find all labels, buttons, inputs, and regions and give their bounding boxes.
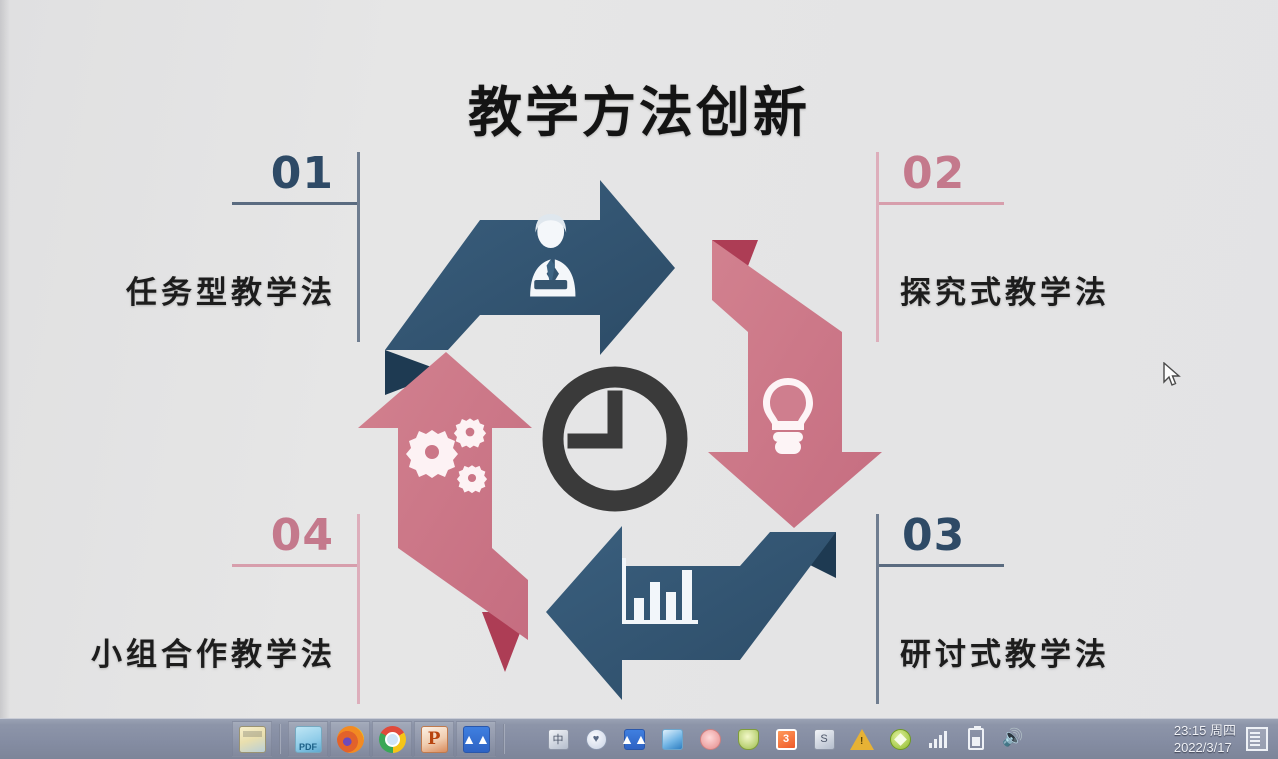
tray-window-app[interactable] [654, 721, 690, 757]
taskbar-divider-2 [503, 724, 505, 754]
mouse-pointer [1162, 362, 1182, 388]
taskbar-app-meeting[interactable]: ▲▲ [456, 721, 496, 757]
tray-warning[interactable] [844, 721, 880, 757]
clock-icon [553, 377, 677, 501]
callout-02-label: 探究式教学法 [876, 267, 1176, 312]
firefox-icon [337, 726, 364, 753]
clock-area[interactable]: 23:15 周四 2022/3/17 [1174, 722, 1278, 756]
file-explorer-icon [239, 726, 266, 753]
pdf-reader-icon: PDF [295, 726, 322, 753]
printer-icon: S [814, 729, 835, 750]
callout-01-number: 01 [60, 152, 360, 196]
taskbar-divider [279, 724, 281, 754]
window-tray-icon [662, 729, 683, 750]
cycle-diagram [330, 160, 910, 720]
tray-volume[interactable]: 🔊 [996, 721, 1032, 757]
tray-flower-app[interactable] [692, 721, 728, 757]
tray-orange-app[interactable]: 3 [768, 721, 804, 757]
arrow-down-rose [708, 240, 882, 528]
arrow-left-navy [546, 526, 836, 700]
clock-times: 23:15 周四 2022/3/17 [1174, 722, 1236, 756]
meeting-tray-icon: ▲▲ [624, 729, 645, 750]
tray-heart-app[interactable]: ♥ [578, 721, 614, 757]
taskbar[interactable]: PDF P ▲▲ 中 ♥ ▲▲ [0, 718, 1278, 759]
volume-icon: 🔊 [1002, 729, 1026, 749]
warning-icon [850, 729, 874, 750]
taskbar-quicklaunch[interactable]: PDF P ▲▲ [232, 721, 510, 757]
heart-app-icon: ♥ [586, 729, 607, 750]
tray-security[interactable] [730, 721, 766, 757]
arrow-right-navy [385, 180, 675, 395]
taskbar-app-firefox[interactable] [330, 721, 370, 757]
notification-center-icon[interactable] [1246, 727, 1268, 751]
callout-02: 02 探究式教学法 [876, 152, 1176, 342]
chrome-icon [379, 726, 406, 753]
system-tray[interactable]: 中 ♥ ▲▲ 3 S [540, 721, 1032, 757]
callout-01-label: 任务型教学法 [60, 267, 360, 312]
taskbar-app-pdf-reader[interactable]: PDF [288, 721, 328, 757]
callout-04-number: 04 [20, 514, 360, 558]
callout-03: 03 研讨式教学法 [876, 514, 1176, 704]
callout-03-number: 03 [876, 514, 1176, 558]
callout-04: 04 小组合作教学法 [20, 514, 360, 704]
green-update-icon [890, 729, 911, 750]
presentation-slide[interactable]: 教学方法创新 01 任务型教学法 02 探究式教学法 03 研讨式教学法 04 … [0, 0, 1278, 718]
tray-battery[interactable] [958, 721, 994, 757]
callout-02-number: 02 [876, 152, 1176, 196]
tray-meeting-app[interactable]: ▲▲ [616, 721, 652, 757]
orange-app-icon: 3 [776, 729, 797, 750]
battery-icon [968, 728, 984, 750]
screen: 教学方法创新 01 任务型教学法 02 探究式教学法 03 研讨式教学法 04 … [0, 0, 1278, 759]
tray-input-method[interactable]: 中 [540, 721, 576, 757]
callout-01: 01 任务型教学法 [60, 152, 360, 342]
input-method-icon: 中 [548, 729, 569, 750]
callout-04-label: 小组合作教学法 [20, 629, 360, 674]
network-signal-icon [929, 730, 947, 748]
security-shield-icon [738, 729, 759, 750]
arrow-up-rose [358, 352, 532, 672]
tray-printer[interactable]: S [806, 721, 842, 757]
taskbar-app-file-explorer[interactable] [232, 721, 272, 757]
taskbar-app-powerpoint[interactable]: P [414, 721, 454, 757]
meeting-app-icon: ▲▲ [463, 726, 490, 753]
callout-03-label: 研讨式教学法 [876, 629, 1176, 674]
flower-app-icon [700, 729, 721, 750]
taskbar-app-chrome[interactable] [372, 721, 412, 757]
clock-time: 23:15 周四 [1174, 722, 1236, 739]
tray-network[interactable] [920, 721, 956, 757]
clock-date: 2022/3/17 [1174, 739, 1236, 756]
tray-update[interactable] [882, 721, 918, 757]
powerpoint-icon: P [421, 726, 448, 753]
page-title: 教学方法创新 [0, 68, 1278, 147]
